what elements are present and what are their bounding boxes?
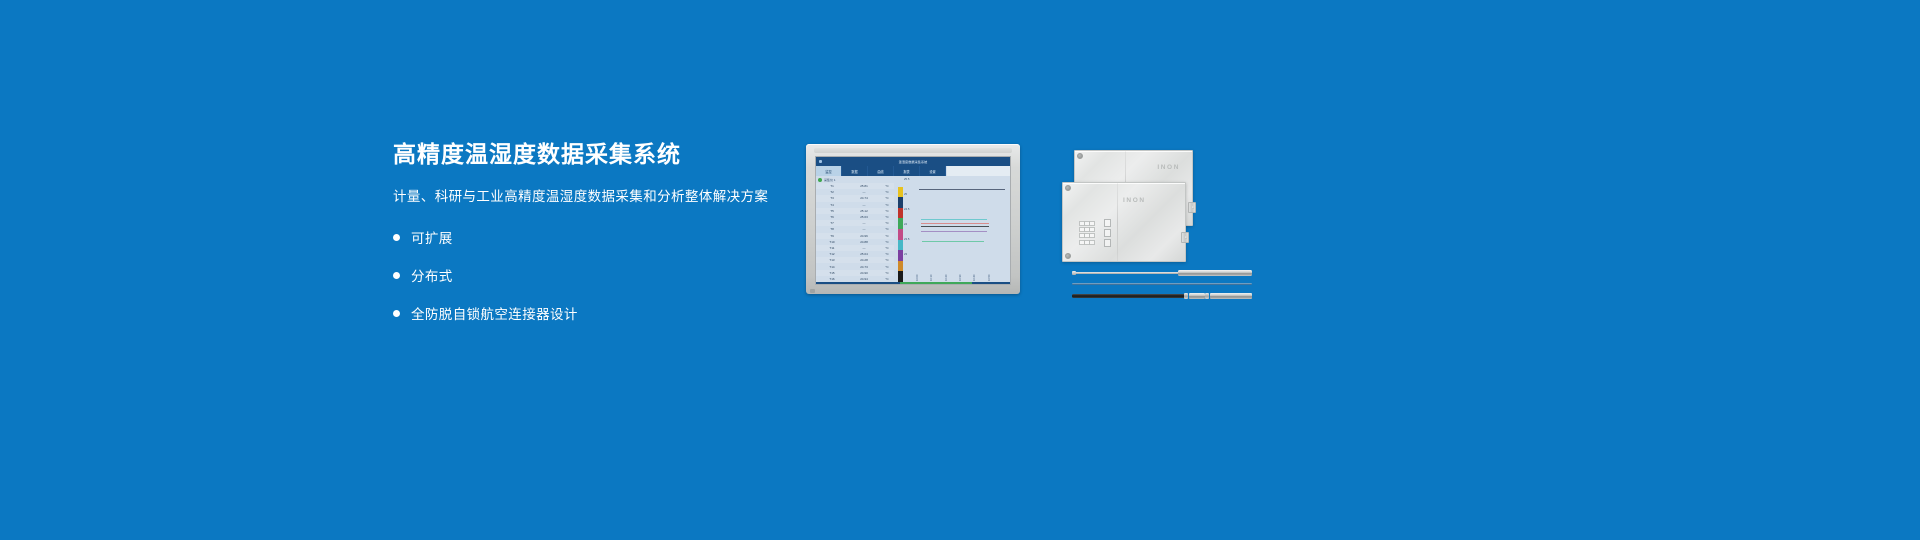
device-label: 采集仪 1 <box>824 178 836 182</box>
series-line <box>921 219 988 220</box>
tab-label: 数据 <box>851 169 857 174</box>
y-tick-label: 23.5 <box>904 237 909 241</box>
tabbar-filler <box>946 166 1010 176</box>
y-tick-label: 23 <box>904 252 907 256</box>
port-column <box>1104 219 1111 247</box>
tab-report[interactable]: 报表 <box>894 166 920 176</box>
bullet-dot-icon <box>393 272 400 279</box>
banner-root: 高精度温湿度数据采集系统 计量、科研与工业高精度温湿度数据采集和分析整体解决方案… <box>0 0 1920 540</box>
series-line <box>921 223 989 224</box>
feature-label: 全防脱自锁航空连接器设计 <box>411 303 578 323</box>
tab-label: 报表 <box>903 169 909 174</box>
screw-icon <box>1065 253 1071 259</box>
stop-acquisition-button[interactable]: 停止采集 <box>936 282 972 285</box>
x-tick-label: 10:30 <box>959 275 962 282</box>
x-tick-label: 10:10 <box>930 275 933 282</box>
hardware-product-images: INON INON <box>1062 142 1252 302</box>
series-line <box>919 189 1005 190</box>
connector-port <box>1181 232 1189 243</box>
column-value: 25.81 --- 24.74 --- 25.12 25.63 --- --- … <box>848 183 880 282</box>
trend-chart: 25.5 25 24.5 24 23.5 23 1 <box>903 176 1010 282</box>
series-line <box>921 226 989 227</box>
channel-panel: 采集仪 1 T1 T2 T3 T4 T5 T6 T7 T8 T9 <box>816 176 898 282</box>
y-tick-label: 25 <box>904 192 907 196</box>
plot-area <box>917 179 1007 268</box>
help-button[interactable]: 帮助 <box>972 282 1010 285</box>
device-node[interactable]: 采集仪 1 <box>816 176 898 183</box>
temperature-probe <box>1072 270 1252 276</box>
tab-settings[interactable]: 设置 <box>920 166 946 176</box>
app-title: 温湿度数据采集系统 <box>816 159 1010 164</box>
column-unit: °C °C °C °C °C °C °C °C °C °C °C °C <box>880 183 894 282</box>
tab-curve[interactable]: 曲线 <box>868 166 894 176</box>
tab-label: 设置 <box>929 169 935 174</box>
x-axis-labels: 10:00 10:10 10:20 10:30 10:40 10:50 <box>917 269 1007 281</box>
series-line <box>921 231 988 232</box>
connector-ring <box>1205 293 1209 300</box>
x-tick-label: 10:40 <box>973 275 976 282</box>
x-tick-label: 10:00 <box>916 275 919 282</box>
brand-logo: INON <box>1157 164 1180 171</box>
cable-body <box>1072 294 1188 297</box>
connector-sleeve <box>1189 293 1205 299</box>
terminal-block-grid <box>1079 221 1093 245</box>
y-tick-label: 25.5 <box>904 177 909 181</box>
screw-icon <box>1077 153 1083 159</box>
feature-item-2: 分布式 <box>393 265 813 285</box>
page-title: 高精度温湿度数据采集系统 <box>393 140 813 169</box>
exit-button[interactable]: 退出 <box>816 282 854 285</box>
bullet-dot-icon <box>393 310 400 317</box>
footer-spacer <box>854 282 900 285</box>
probe-shaft <box>1072 272 1180 275</box>
probe-barrel <box>1178 270 1252 275</box>
cable-body <box>1072 283 1252 285</box>
connector-ring <box>1184 293 1188 300</box>
app-tabbar: 监控 数据 曲线 报表 设置 <box>816 166 1010 176</box>
app-titlebar: 温湿度数据采集系统 <box>816 157 1010 166</box>
feature-label: 可扩展 <box>411 227 453 247</box>
probe-tip <box>1072 271 1076 274</box>
feature-item-3: 全防脱自锁航空连接器设计 <box>393 303 813 323</box>
screw-icon <box>1065 185 1071 191</box>
signal-cable-blue <box>1072 283 1252 286</box>
bullet-dot-icon <box>393 234 400 241</box>
y-tick-label: 24 <box>904 222 907 226</box>
panel-pc-screen: 温湿度数据采集系统 监控 数据 曲线 报表 设置 采集仪 1 <box>815 156 1011 285</box>
feature-label: 分布式 <box>411 265 453 285</box>
tab-data[interactable]: 数据 <box>842 166 868 176</box>
series-line <box>922 241 983 242</box>
column-channel: T1 T2 T3 T4 T5 T6 T7 T8 T9 T10 T11 T12 <box>816 183 848 282</box>
tab-monitor[interactable]: 监控 <box>816 166 842 176</box>
feature-item-1: 可扩展 <box>393 227 813 247</box>
feature-list: 可扩展 分布式 全防脱自锁航空连接器设计 <box>393 227 813 323</box>
status-online-icon <box>818 178 822 182</box>
x-tick-label: 10:20 <box>945 275 948 282</box>
banner-copy: 高精度温湿度数据采集系统 计量、科研与工业高精度温湿度数据采集和分析整体解决方案… <box>393 140 813 341</box>
acquisition-module-front: INON <box>1062 182 1186 262</box>
channel-table: T1 T2 T3 T4 T5 T6 T7 T8 T9 T10 T11 T12 <box>816 183 898 282</box>
tab-label: 监控 <box>825 169 831 174</box>
connector-port <box>1188 202 1196 213</box>
start-acquisition-button[interactable]: 开始采集 <box>900 282 936 285</box>
brand-logo: INON <box>1123 197 1146 204</box>
panel-pc-foot <box>810 289 815 293</box>
aviation-connector-cable <box>1072 292 1252 300</box>
app-footer: 退出 开始采集 停止采集 帮助 <box>816 282 1010 285</box>
panel-pc-product-image: 温湿度数据采集系统 监控 数据 曲线 报表 设置 采集仪 1 <box>806 144 1020 294</box>
panel-seam <box>1117 183 1118 261</box>
x-tick-label: 10:50 <box>988 275 991 282</box>
tab-label: 曲线 <box>877 169 883 174</box>
y-tick-label: 24.5 <box>904 207 909 211</box>
page-subtitle: 计量、科研与工业高精度温湿度数据采集和分析整体解决方案 <box>393 188 813 206</box>
connector-barrel <box>1210 293 1252 299</box>
app-body: 采集仪 1 T1 T2 T3 T4 T5 T6 T7 T8 T9 <box>816 176 1010 282</box>
